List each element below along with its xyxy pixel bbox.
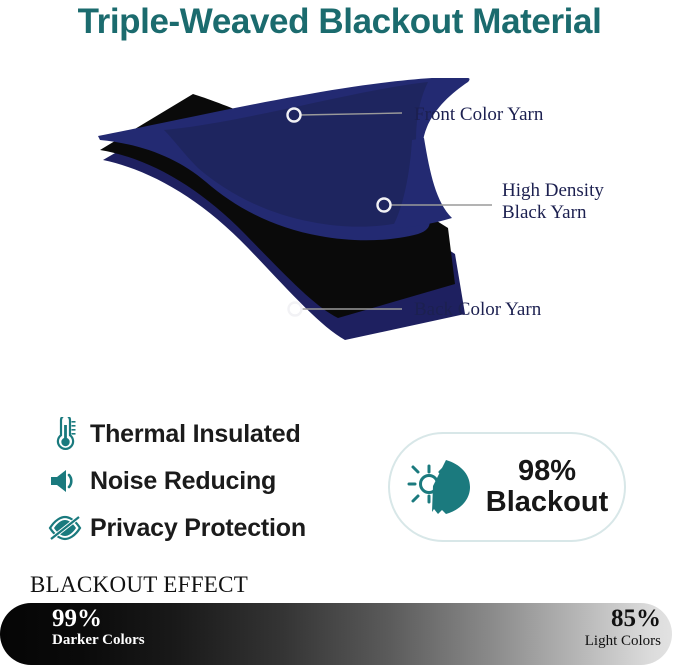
feature-item-noise-reducing: Noise Reducing — [48, 459, 368, 503]
callout-label-line2: Black Yarn — [502, 202, 604, 224]
feature-item-privacy-protection: Privacy Protection — [48, 506, 368, 550]
darker-colors-caption: Darker Colors — [52, 633, 145, 648]
callout-label-line1: High Density — [502, 180, 604, 202]
blackout-badge-text: 98% Blackout — [486, 456, 608, 517]
eye-slash-icon — [48, 511, 84, 545]
blackout-light-colors: 85% Light Colors — [585, 606, 661, 649]
speaker-icon — [48, 464, 84, 498]
page-title: Triple-Weaved Blackout Material — [0, 2, 679, 42]
feature-list: Thermal Insulated Noise Reducing Privacy… — [48, 412, 368, 553]
feature-label: Noise Reducing — [90, 467, 276, 496]
blackout-badge: 98% Blackout — [388, 432, 626, 542]
feature-label: Thermal Insulated — [90, 420, 301, 449]
thermometer-icon — [48, 417, 84, 451]
light-colors-caption: Light Colors — [585, 634, 661, 649]
feature-label: Privacy Protection — [90, 514, 306, 543]
blackout-darker-colors: 99% Darker Colors — [52, 606, 145, 648]
light-colors-percent: 85% — [585, 606, 661, 631]
sun-blocked-icon — [406, 452, 480, 522]
callout-label-back-color-yarn: Back Color Yarn — [414, 299, 541, 321]
feature-item-thermal-insulated: Thermal Insulated — [48, 412, 368, 456]
blackout-word: Blackout — [486, 487, 608, 518]
callout-label-high-density-black-yarn: High Density Black Yarn — [502, 180, 604, 225]
fabric-layers-diagram — [0, 78, 679, 378]
darker-colors-percent: 99% — [52, 606, 145, 631]
callout-label-front-color-yarn: Front Color Yarn — [414, 104, 543, 126]
blackout-effect-title: BLACKOUT EFFECT — [30, 572, 248, 598]
blackout-percent: 98% — [486, 456, 608, 487]
